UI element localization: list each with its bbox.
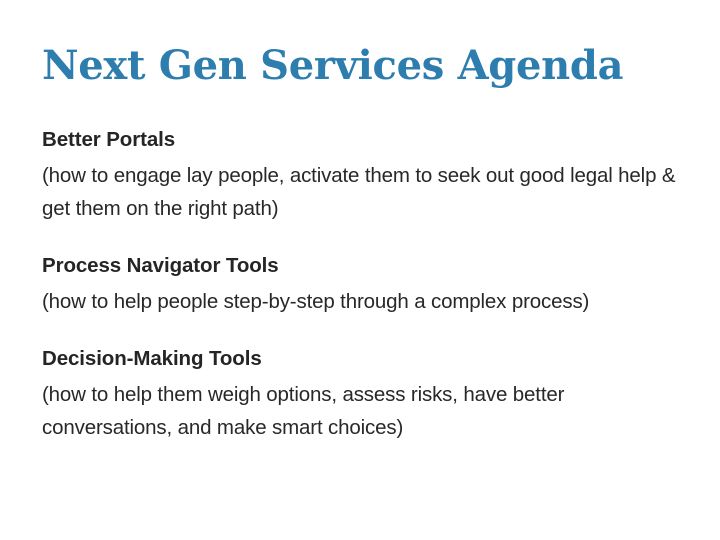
section-description-decision-making-tools: (how to help them weigh options, assess …: [42, 378, 682, 444]
section-heading-process-navigator-tools: Process Navigator Tools: [42, 252, 690, 280]
section-heading-decision-making-tools: Decision-Making Tools: [42, 345, 690, 373]
section-description-process-navigator-tools: (how to help people step-by-step through…: [42, 285, 682, 318]
agenda-section-decision-making-tools: Decision-Making Tools (how to help them …: [42, 345, 690, 444]
agenda-section-process-navigator-tools: Process Navigator Tools (how to help peo…: [42, 252, 690, 318]
section-description-better-portals: (how to engage lay people, activate them…: [42, 159, 682, 225]
section-heading-better-portals: Better Portals: [42, 126, 690, 154]
presentation-slide: Next Gen Services Agenda Better Portals …: [0, 0, 720, 540]
agenda-section-better-portals: Better Portals (how to engage lay people…: [42, 126, 690, 225]
agenda-list: Better Portals (how to engage lay people…: [42, 126, 690, 444]
page-title: Next Gen Services Agenda: [42, 44, 623, 89]
